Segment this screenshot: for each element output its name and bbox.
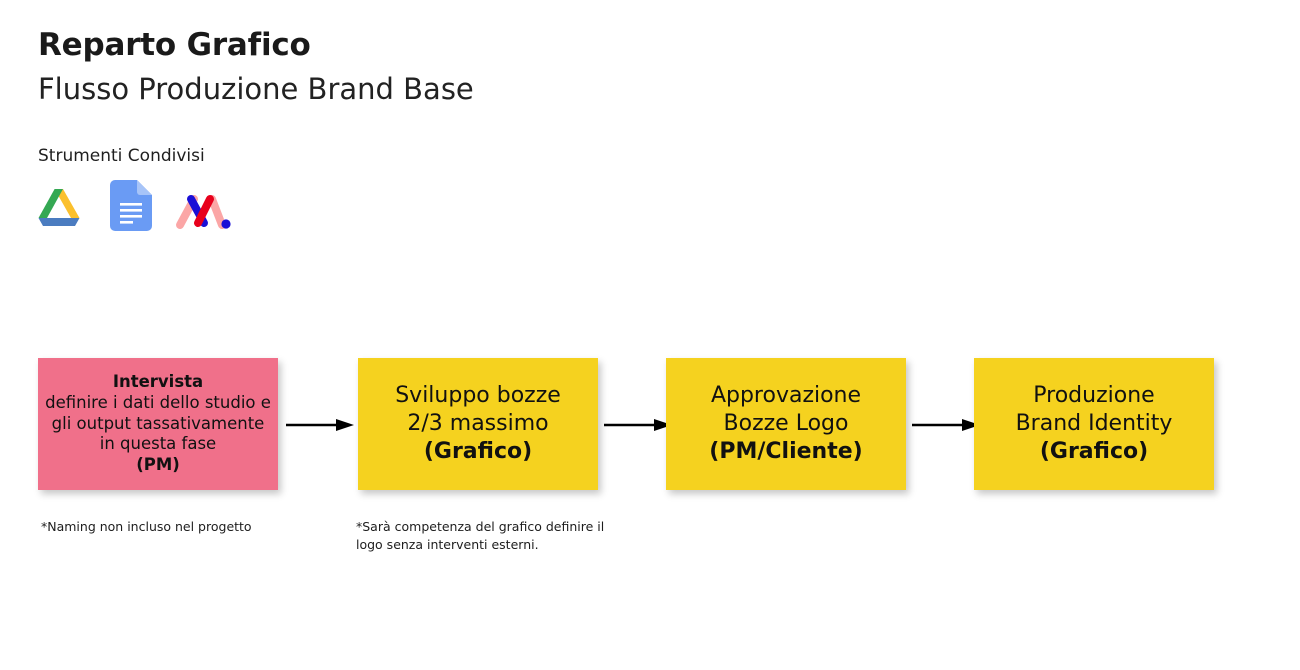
shared-tools-label: Strumenti Condivisi: [38, 146, 232, 166]
flow-card-line: gli output tassativamente: [45, 414, 271, 435]
flow-card-line: definire i dati dello studio e: [45, 393, 271, 414]
flow-card-line: 2/3 massimo: [395, 410, 561, 438]
page-subtitle: Flusso Produzione Brand Base: [38, 72, 474, 107]
flow-card-line: (Grafico): [1016, 438, 1173, 466]
flow-card-text: Produzione Brand Identity (Grafico): [1016, 382, 1173, 465]
arrow-sviluppo-to-approvazione: [604, 417, 672, 431]
flow-card-text: Intervista definire i dati dello studio …: [45, 372, 271, 476]
flow-card-line: (Grafico): [395, 438, 561, 466]
flow-card-line: Produzione: [1016, 382, 1173, 410]
shared-tools-icon-list: [38, 182, 232, 236]
flow-card-approvazione-bozze-logo[interactable]: Approvazione Bozze Logo (PM/Cliente): [666, 358, 906, 490]
google-docs-icon[interactable]: [110, 180, 152, 236]
flow-card-intervista[interactable]: Intervista definire i dati dello studio …: [38, 358, 278, 490]
flow-card-line: Bozze Logo: [709, 410, 862, 438]
flow-card-line: Sviluppo bozze: [395, 382, 561, 410]
monday-icon[interactable]: [174, 192, 232, 236]
flow-card-line: (PM/Cliente): [709, 438, 862, 466]
arrow-approvazione-to-produzione: [912, 417, 980, 431]
flow-card-line: (PM): [45, 455, 271, 476]
flow-card-line: Intervista: [45, 372, 271, 393]
flow-card-line: Brand Identity: [1016, 410, 1173, 438]
flow-card-produzione-brand-identity[interactable]: Produzione Brand Identity (Grafico): [974, 358, 1214, 490]
flow-card-text: Sviluppo bozze 2/3 massimo (Grafico): [395, 382, 561, 465]
process-flow: Intervista definire i dati dello studio …: [38, 358, 1218, 492]
footnote-grafico: *Sarà competenza del grafico definire il…: [356, 518, 611, 554]
flow-card-text: Approvazione Bozze Logo (PM/Cliente): [709, 382, 862, 465]
page-header: Reparto Grafico Flusso Produzione Brand …: [38, 28, 474, 106]
footnote-naming: *Naming non incluso nel progetto: [41, 518, 341, 536]
page-title: Reparto Grafico: [38, 28, 474, 64]
google-drive-icon[interactable]: [38, 186, 88, 236]
arrow-intervista-to-sviluppo: [286, 417, 354, 431]
flow-card-line: in questa fase: [45, 434, 271, 455]
flow-card-line: Approvazione: [709, 382, 862, 410]
flow-card-sviluppo-bozze[interactable]: Sviluppo bozze 2/3 massimo (Grafico): [358, 358, 598, 490]
shared-tools-section: Strumenti Condivisi: [38, 146, 232, 236]
